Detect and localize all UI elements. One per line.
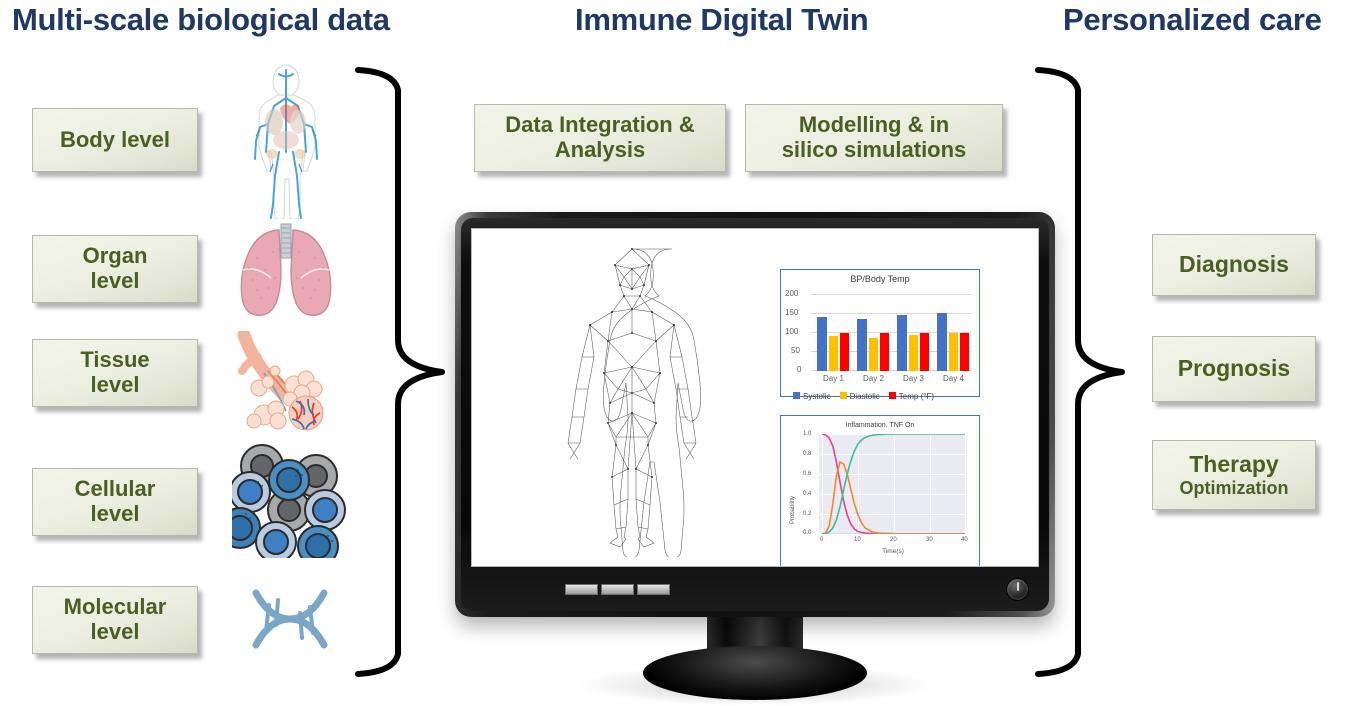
chip-prognosis-label: Prognosis: [1159, 356, 1309, 382]
chip-organ-level[interactable]: Organ level: [32, 235, 198, 303]
chip-data-integration-label-2: Analysis: [481, 138, 719, 163]
bar-chart-title: BP/Body Temp: [781, 274, 979, 284]
chip-therapy-label: Therapy: [1159, 452, 1309, 478]
cells-icon: [232, 442, 346, 558]
dna-helix-icon: [240, 583, 340, 655]
bar-xtick-day4: Day 4: [943, 374, 964, 383]
line-ytick-0.4: 0.4: [803, 491, 811, 497]
chip-data-integration-analysis[interactable]: Data Integration & Analysis: [474, 104, 726, 172]
wireframe-human-avatar: [512, 237, 752, 557]
line-ytick-0.0: 0.0: [803, 530, 811, 536]
monitor-control-buttons[interactable]: [565, 584, 670, 595]
bar-ytick-150: 150: [785, 308, 798, 317]
line-xtick-40: 40: [961, 537, 968, 543]
monitor: BP/Body Temp 200 150 100 50 0: [455, 212, 1055, 617]
bar-day4-systolic: [937, 313, 947, 371]
bar-xtick-day2: Day 2: [863, 374, 884, 383]
chip-body-level-label: Body level: [39, 128, 191, 153]
bar-day2-temp: [880, 333, 889, 371]
monitor-screen: BP/Body Temp 200 150 100 50 0: [471, 228, 1039, 567]
chip-molecular-level[interactable]: Molecular level: [32, 586, 198, 654]
monitor-button-3[interactable]: [637, 584, 670, 595]
legend-swatch-temp: [889, 392, 896, 399]
bar-xtick-day1: Day 1: [823, 374, 844, 383]
bar-day2-systolic: [857, 319, 867, 371]
line-chart-title: Inflammation, TNF On: [781, 422, 979, 429]
bar-ytick-200: 200: [785, 289, 798, 298]
chip-data-integration-label-1: Data Integration &: [481, 113, 719, 138]
chip-tissue-level-label-1: Tissue: [39, 348, 191, 373]
page-title-middle: Immune Digital Twin: [575, 2, 868, 38]
chart-inflammation-tnf-on: Inflammation, TNF On Probability: [780, 415, 980, 567]
bar-day1-temp: [840, 333, 849, 371]
bar-ytick-100: 100: [785, 327, 798, 336]
line-xtick-10: 10: [854, 537, 861, 543]
bar-ytick-50: 50: [791, 346, 800, 355]
legend-item-systolic: Systolic: [793, 386, 831, 404]
monitor-button-2[interactable]: [601, 584, 634, 595]
line-ytick-0.2: 0.2: [803, 511, 811, 517]
bar-day4-diastolic: [949, 333, 958, 371]
monitor-bezel: BP/Body Temp 200 150 100 50 0: [455, 212, 1055, 617]
power-button[interactable]: [1006, 578, 1029, 601]
brace-left: [352, 66, 456, 678]
legend-item-diastolic: Diastolic: [840, 386, 880, 404]
bar-xtick-day3: Day 3: [903, 374, 924, 383]
bar-day3-diastolic: [909, 335, 918, 371]
chip-molecular-level-label-2: level: [39, 620, 191, 645]
line-xtick-30: 30: [926, 537, 933, 543]
bar-chart-legend: Systolic Diastolic Temp (°F): [793, 386, 934, 404]
chip-organ-level-label-2: level: [39, 269, 191, 294]
bar-day1-diastolic: [829, 336, 838, 371]
bar-plot-area: [811, 294, 971, 371]
legend-label-diastolic: Diastolic: [850, 392, 880, 401]
chip-cellular-level-label-1: Cellular: [39, 477, 191, 502]
curve-healthy-decay: [822, 434, 965, 534]
curve-inflamed-rise: [822, 434, 965, 534]
legend-label-temp: Temp (°F): [899, 392, 934, 401]
legend-swatch-systolic: [793, 392, 800, 399]
monitor-stand-base: [643, 646, 867, 700]
chip-diagnosis-label: Diagnosis: [1159, 252, 1309, 278]
chip-therapy-sublabel: Optimization: [1159, 478, 1309, 498]
chip-modelling-label-2: silico simulations: [752, 138, 996, 163]
bar-ytick-0: 0: [797, 365, 801, 374]
page-title-right: Personalized care: [1063, 2, 1322, 38]
chip-organ-level-label-1: Organ: [39, 244, 191, 269]
lungs-icon: [231, 218, 341, 323]
line-chart-xlabel: Time(s): [819, 548, 967, 555]
chip-molecular-level-label-1: Molecular: [39, 595, 191, 620]
human-body-circulatory-icon: [232, 64, 340, 219]
chip-tissue-level-label-2: level: [39, 373, 191, 398]
bar-day2-diastolic: [869, 338, 878, 371]
chip-modelling-label-1: Modelling & in: [752, 113, 996, 138]
line-ytick-0.6: 0.6: [803, 471, 811, 477]
line-plot-area: [819, 434, 967, 534]
line-xtick-20: 20: [890, 537, 897, 543]
bar-day3-systolic: [897, 315, 907, 371]
chip-prognosis[interactable]: Prognosis: [1152, 336, 1316, 402]
monitor-button-1[interactable]: [565, 584, 598, 595]
chip-modelling-simulations[interactable]: Modelling & in silico simulations: [745, 104, 1003, 172]
chip-diagnosis[interactable]: Diagnosis: [1152, 234, 1316, 296]
legend-item-temp: Temp (°F): [889, 386, 934, 404]
bar-day3-temp: [920, 333, 929, 371]
chip-therapy-optimization[interactable]: Therapy Optimization: [1152, 440, 1316, 510]
page-title-left: Multi-scale biological data: [12, 2, 390, 38]
chip-body-level[interactable]: Body level: [32, 108, 198, 172]
chip-cellular-level-label-2: level: [39, 502, 191, 527]
line-ytick-0.8: 0.8: [803, 451, 811, 457]
alveoli-tissue-icon: [228, 331, 346, 439]
bar-day1-systolic: [817, 317, 827, 371]
chip-cellular-level[interactable]: Cellular level: [32, 468, 198, 536]
bar-day4-temp: [960, 333, 969, 372]
line-xtick-0: 0: [820, 537, 823, 543]
legend-label-systolic: Systolic: [803, 392, 831, 401]
infographic-root: Multi-scale biological data Immune Digit…: [0, 0, 1348, 690]
chip-tissue-level[interactable]: Tissue level: [32, 339, 198, 407]
chart-bp-body-temp: BP/Body Temp 200 150 100 50 0: [780, 269, 980, 397]
line-ytick-1.0: 1.0: [803, 431, 811, 437]
line-chart-curves: [819, 434, 967, 534]
line-chart-ylabel: Probability: [790, 496, 796, 524]
legend-swatch-diastolic: [840, 392, 847, 399]
